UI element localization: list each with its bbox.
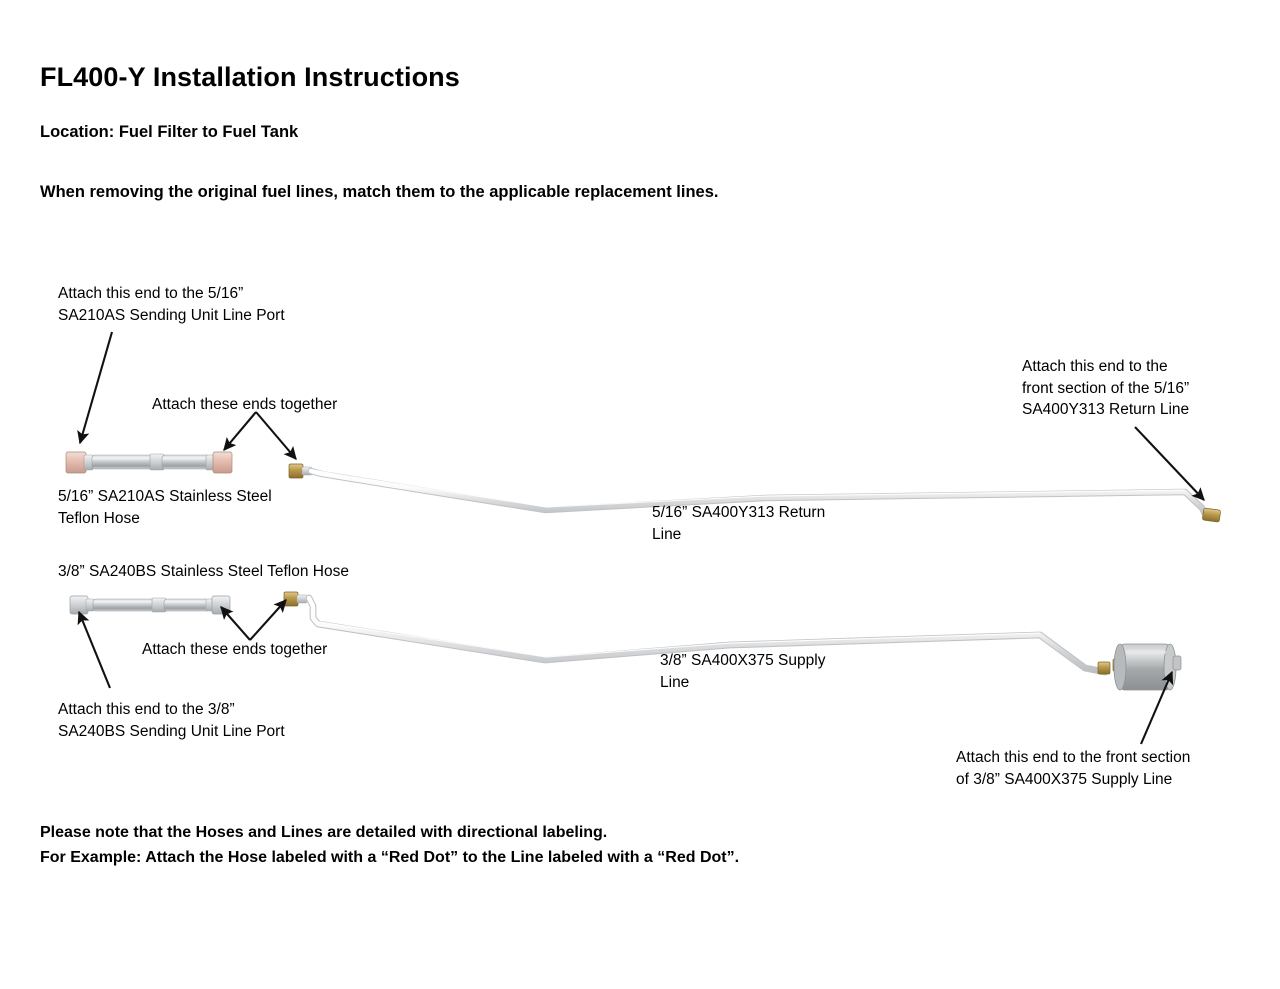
arrow-upper-mid-right	[256, 412, 296, 459]
arrow-lower-mid-right	[250, 600, 286, 640]
arrow-lower-right	[1141, 672, 1172, 744]
instruction-line: When removing the original fuel lines, m…	[40, 183, 718, 202]
location-line: Location: Fuel Filter to Fuel Tank	[40, 123, 298, 142]
arrow-upper-left	[80, 332, 112, 443]
part-label-return-line: 5/16” SA400Y313 Return Line	[652, 502, 825, 545]
lower-braided-hose	[70, 596, 230, 614]
fuel-filter-canister	[1114, 644, 1181, 690]
page-title: FL400-Y Installation Instructions	[40, 62, 460, 93]
callout-upper-right: Attach this end to the front section of …	[1022, 356, 1189, 421]
callout-lower-right: Attach this end to the front section of …	[956, 747, 1190, 790]
arrow-lower-left	[79, 612, 110, 688]
callout-upper-middle: Attach these ends together	[152, 394, 337, 416]
upper-braided-hose	[66, 452, 232, 473]
arrow-upper-right	[1135, 427, 1204, 500]
callout-lower-middle: Attach these ends together	[142, 639, 327, 661]
installation-instructions-page: FL400-Y Installation Instructions Locati…	[0, 0, 1280, 989]
callout-lower-left: Attach this end to the 3/8” SA240BS Send…	[58, 699, 285, 742]
part-label-upper-hose: 5/16” SA210AS Stainless Steel Teflon Hos…	[58, 486, 272, 529]
footer-note: Please note that the Hoses and Lines are…	[40, 820, 739, 870]
part-label-supply-line: 3/8” SA400X375 Supply Line	[660, 650, 825, 693]
arrow-lower-mid-left	[221, 607, 250, 640]
arrow-upper-mid-left	[224, 412, 256, 450]
part-label-lower-hose: 3/8” SA240BS Stainless Steel Teflon Hose	[58, 561, 349, 583]
callout-upper-left: Attach this end to the 5/16” SA210AS Sen…	[58, 283, 285, 326]
